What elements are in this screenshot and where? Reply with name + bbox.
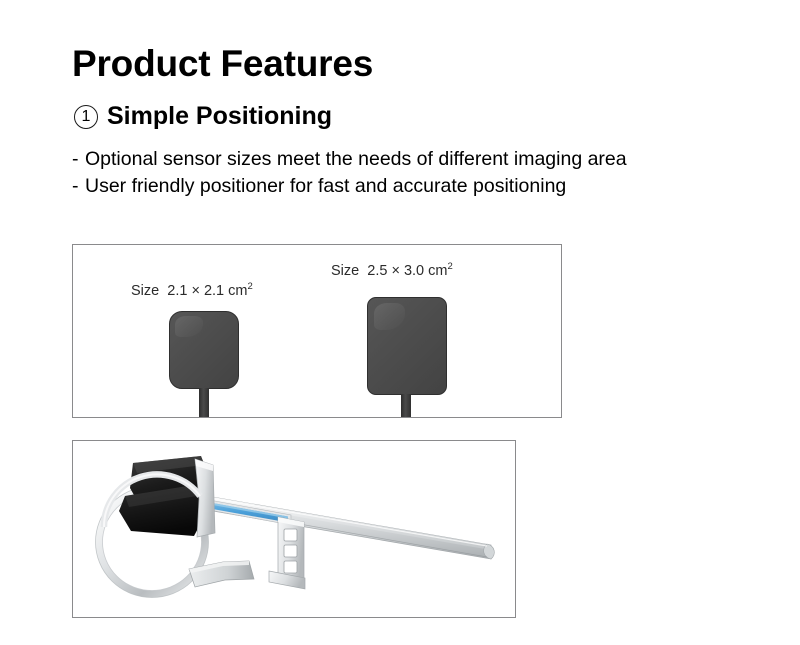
list-item: - User friendly positioner for fast and … bbox=[72, 173, 732, 199]
positioner-illustration bbox=[73, 441, 516, 618]
circled-number-badge: 1 bbox=[74, 105, 98, 129]
page-title: Product Features bbox=[72, 45, 373, 82]
small-sensor-body bbox=[169, 311, 239, 389]
indicator-arm bbox=[201, 495, 494, 559]
small-sensor-size-prefix: Size bbox=[131, 283, 159, 299]
bullet-marker: - bbox=[72, 146, 85, 172]
bullet-text: Optional sensor sizes meet the needs of … bbox=[85, 146, 705, 172]
large-sensor-body bbox=[367, 297, 447, 395]
positioner-panel bbox=[72, 440, 516, 618]
feature-heading: 1 Simple Positioning bbox=[74, 104, 332, 129]
large-sensor-cable bbox=[401, 394, 411, 418]
small-sensor-unit-exponent: 2 bbox=[247, 281, 252, 292]
feature-heading-label: Simple Positioning bbox=[107, 104, 332, 129]
large-sensor-unit-exponent: 2 bbox=[447, 261, 452, 272]
bullet-marker: - bbox=[72, 173, 85, 199]
small-sensor-size-label: Size 2.1 × 2.1 cm2 bbox=[131, 283, 253, 299]
plate-slot bbox=[284, 561, 297, 573]
plate-slot bbox=[284, 529, 297, 541]
small-sensor-cable bbox=[199, 388, 209, 417]
slotted-bite-plate bbox=[269, 517, 305, 589]
bullet-text: User friendly positioner for fast and ac… bbox=[85, 173, 705, 199]
small-sensor-illustration bbox=[169, 311, 245, 417]
plate-slot bbox=[284, 545, 297, 557]
large-sensor-size-prefix: Size bbox=[331, 263, 359, 279]
large-sensor-size-label: Size 2.5 × 3.0 cm2 bbox=[331, 263, 453, 279]
sensor-sizes-panel: Size 2.1 × 2.1 cm2 Size 2.5 × 3.0 cm2 bbox=[72, 244, 562, 418]
list-item: - Optional sensor sizes meet the needs o… bbox=[72, 146, 732, 172]
large-sensor-size-value: 2.5 × 3.0 cm bbox=[367, 263, 447, 279]
small-sensor-size-value: 2.1 × 2.1 cm bbox=[167, 283, 247, 299]
large-sensor-illustration bbox=[367, 297, 457, 418]
feature-bullet-list: - Optional sensor sizes meet the needs o… bbox=[72, 146, 732, 200]
